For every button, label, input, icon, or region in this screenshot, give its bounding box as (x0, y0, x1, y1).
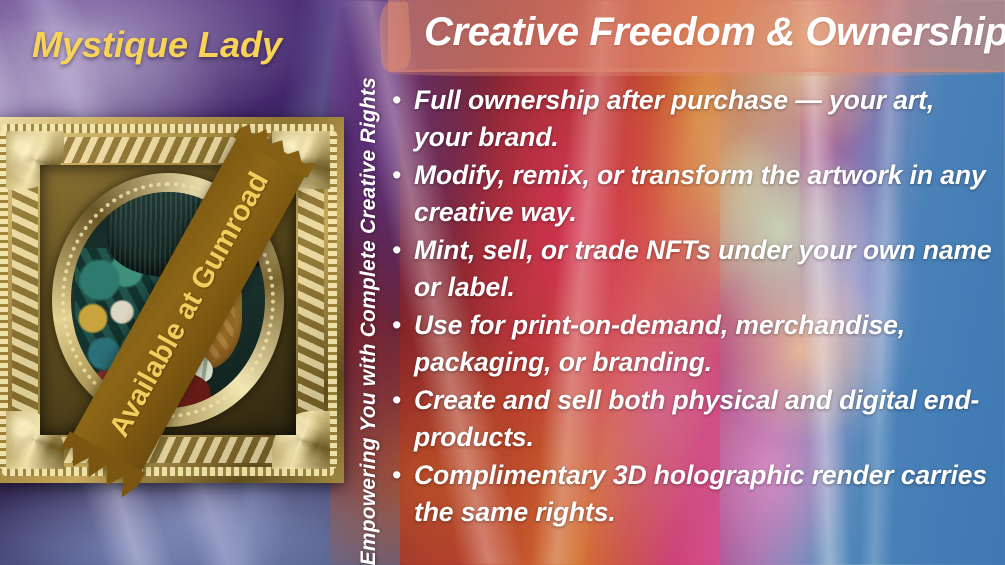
bullet-dot-icon: • (392, 157, 414, 194)
list-item: • Use for print-on-demand, merchandise, … (392, 307, 992, 381)
bullet-dot-icon: • (392, 82, 414, 119)
list-item-text: Full ownership after purchase — your art… (414, 82, 992, 156)
vertical-tagline: Empowering You with Complete Creative Ri… (351, 0, 387, 565)
frame-leaf-band-left (12, 163, 38, 437)
list-item-text: Complimentary 3D holographic render carr… (414, 457, 992, 531)
list-item-text: Use for print-on-demand, merchandise, pa… (414, 307, 992, 381)
list-item-text: Create and sell both physical and digita… (414, 382, 992, 456)
list-item-text: Mint, sell, or trade NFTs under your own… (414, 232, 992, 306)
vertical-tagline-label: Empowering You with Complete Creative Ri… (357, 75, 381, 565)
bullet-dot-icon: • (392, 232, 414, 269)
list-item: • Modify, remix, or transform the artwor… (392, 157, 992, 231)
list-item: • Complimentary 3D holographic render ca… (392, 457, 992, 531)
list-item: • Create and sell both physical and digi… (392, 382, 992, 456)
page-title: Mystique Lady (32, 24, 282, 66)
bullet-dot-icon: • (392, 307, 414, 344)
list-item: • Mint, sell, or trade NFTs under your o… (392, 232, 992, 306)
benefits-list: • Full ownership after purchase — your a… (392, 82, 992, 532)
list-item: • Full ownership after purchase — your a… (392, 82, 992, 156)
promotional-poster: Creative Freedom & Ownership Mystique La… (0, 0, 1005, 565)
bullet-dot-icon: • (392, 382, 414, 419)
list-item-text: Modify, remix, or transform the artwork … (414, 157, 992, 231)
bullet-dot-icon: • (392, 457, 414, 494)
frame-leaf-band-right (298, 163, 324, 437)
header-title: Creative Freedom & Ownership (424, 10, 1005, 55)
